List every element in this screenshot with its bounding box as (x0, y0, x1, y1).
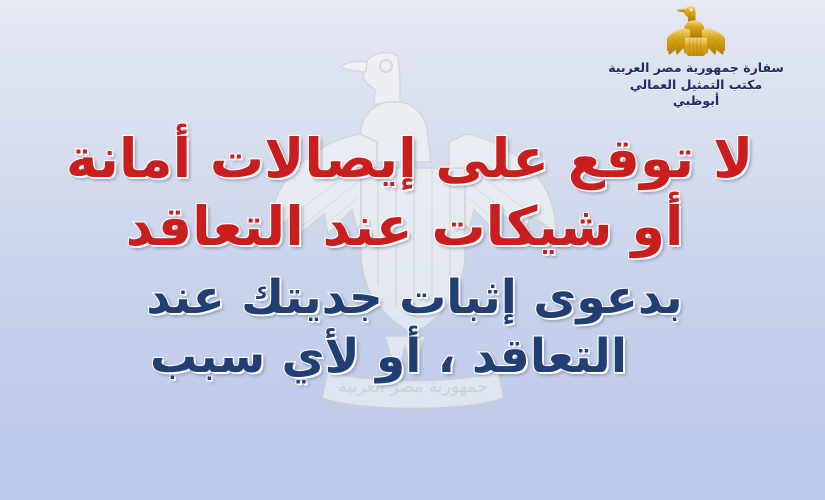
message-line-2: أو شيكات عند التعاقد (0, 200, 817, 254)
embassy-name-line: سفارة جمهورية مصر العربية (581, 60, 811, 77)
eagle-of-saladin-emblem (667, 4, 725, 56)
awareness-poster: جمهورية مصر العربية (0, 0, 825, 500)
labour-office-line: مكتب التمثيل العمالي (581, 77, 811, 94)
message-block: لا توقع على إيصالات أمانة أو شيكات عند ا… (0, 132, 825, 380)
message-line-1: لا توقع على إيصالات أمانة (0, 132, 822, 186)
message-line-3: بدعوى إثبات جديتك عند (2, 274, 825, 321)
city-line: أبوظبي (581, 93, 811, 110)
message-line-4: التعاقد ، أو لأي سبب (0, 333, 801, 380)
embassy-header: سفارة جمهورية مصر العربية مكتب التمثيل ا… (581, 4, 811, 110)
